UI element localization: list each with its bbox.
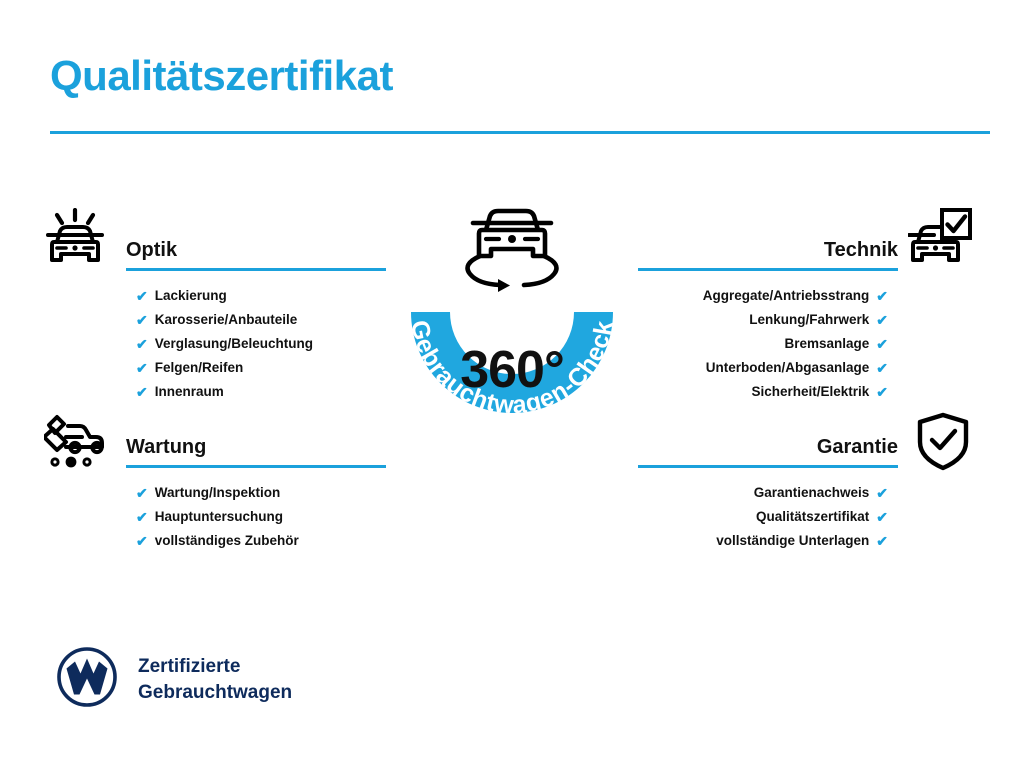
checklist-item: Lenkung/Fahrwerk✔ bbox=[638, 308, 898, 332]
vw-logo-icon bbox=[56, 646, 118, 713]
checklist-item-label: Sicherheit/Elektrik bbox=[751, 380, 869, 404]
section-header: Wartung bbox=[126, 425, 386, 465]
checklist-item-label: Lenkung/Fahrwerk bbox=[749, 308, 869, 332]
checklist-item-label: Lackierung bbox=[155, 284, 227, 308]
checklist-item: ✔Verglasung/Beleuchtung bbox=[126, 332, 386, 356]
check-icon: ✔ bbox=[876, 510, 888, 524]
checklist-technik: Aggregate/Antriebsstrang✔Lenkung/Fahrwer… bbox=[638, 284, 898, 404]
vw-wordmark: Zertifizierte Gebrauchtwagen bbox=[138, 654, 292, 706]
check-icon: ✔ bbox=[136, 313, 148, 327]
section-header: Garantie bbox=[638, 425, 898, 465]
checklist-item: ✔Innenraum bbox=[126, 380, 386, 404]
check-icon: ✔ bbox=[136, 289, 148, 303]
section-optik: Optik ✔Lackierung✔Karosserie/Anbauteile✔… bbox=[126, 228, 386, 404]
section-technik: Technik Aggregate/Antriebsstrang✔Lenkung… bbox=[638, 228, 898, 404]
checklist-wartung: ✔Wartung/Inspektion✔Hauptuntersuchung✔vo… bbox=[126, 481, 386, 553]
check-icon: ✔ bbox=[876, 337, 888, 351]
checklist-item-label: Garantienachweis bbox=[754, 481, 870, 505]
checklist-item: ✔Karosserie/Anbauteile bbox=[126, 308, 386, 332]
checklist-item-label: Felgen/Reifen bbox=[155, 356, 244, 380]
footer-brand: Zertifizierte Gebrauchtwagen bbox=[56, 646, 292, 713]
checklist-item: ✔Wartung/Inspektion bbox=[126, 481, 386, 505]
check-icon: ✔ bbox=[876, 486, 888, 500]
checklist-item-label: Unterboden/Abgasanlage bbox=[706, 356, 870, 380]
checklist-item: ✔Hauptuntersuchung bbox=[126, 505, 386, 529]
car-checkbox-icon bbox=[908, 208, 972, 275]
checklist-item: Qualitätszertifikat✔ bbox=[638, 505, 898, 529]
checklist-item-label: Karosserie/Anbauteile bbox=[155, 308, 298, 332]
checklist-garantie: Garantienachweis✔Qualitätszertifikat✔vol… bbox=[638, 481, 898, 553]
check-icon: ✔ bbox=[136, 385, 148, 399]
section-title-optik: Optik bbox=[126, 239, 177, 262]
section-title-garantie: Garantie bbox=[817, 436, 898, 459]
checklist-item: Garantienachweis✔ bbox=[638, 481, 898, 505]
section-divider-technik bbox=[638, 268, 898, 271]
checklist-item: ✔Lackierung bbox=[126, 284, 386, 308]
check-icon: ✔ bbox=[136, 361, 148, 375]
title-divider bbox=[50, 131, 990, 134]
section-header: Optik bbox=[126, 228, 386, 268]
section-divider-optik bbox=[126, 268, 386, 271]
checklist-item-label: Verglasung/Beleuchtung bbox=[155, 332, 313, 356]
check-icon: ✔ bbox=[876, 361, 888, 375]
checklist-item-label: Aggregate/Antriebsstrang bbox=[703, 284, 870, 308]
360-check-badge: Gebrauchtwagen-Check 360° bbox=[378, 256, 646, 476]
section-divider-garantie bbox=[638, 465, 898, 468]
section-title-wartung: Wartung bbox=[126, 436, 206, 459]
certificate-page: Qualitätszertifikat bbox=[0, 0, 1024, 768]
section-divider-wartung bbox=[126, 465, 386, 468]
badge-degrees-label: 360° bbox=[378, 340, 646, 400]
vw-wordmark-line1: Zertifizierte bbox=[138, 654, 292, 680]
checklist-item-label: Hauptuntersuchung bbox=[155, 505, 283, 529]
section-header: Technik bbox=[638, 228, 898, 268]
checklist-item-label: Innenraum bbox=[155, 380, 224, 404]
section-wartung: Wartung ✔Wartung/Inspektion✔Hauptuntersu… bbox=[126, 425, 386, 553]
check-icon: ✔ bbox=[876, 534, 888, 548]
car-shine-icon bbox=[44, 208, 106, 275]
check-icon: ✔ bbox=[876, 313, 888, 327]
checklist-item: Unterboden/Abgasanlage✔ bbox=[638, 356, 898, 380]
checklist-item-label: vollständiges Zubehör bbox=[155, 529, 299, 553]
check-icon: ✔ bbox=[876, 385, 888, 399]
check-icon: ✔ bbox=[136, 486, 148, 500]
checklist-item-label: vollständige Unterlagen bbox=[716, 529, 869, 553]
checklist-optik: ✔Lackierung✔Karosserie/Anbauteile✔Vergla… bbox=[126, 284, 386, 404]
checklist-item: Sicherheit/Elektrik✔ bbox=[638, 380, 898, 404]
car-service-book-icon bbox=[44, 412, 110, 475]
checklist-item-label: Wartung/Inspektion bbox=[155, 481, 281, 505]
check-icon: ✔ bbox=[136, 337, 148, 351]
checklist-item: Aggregate/Antriebsstrang✔ bbox=[638, 284, 898, 308]
checklist-item: Bremsanlage✔ bbox=[638, 332, 898, 356]
checklist-item: vollständige Unterlagen✔ bbox=[638, 529, 898, 553]
check-icon: ✔ bbox=[876, 289, 888, 303]
section-title-technik: Technik bbox=[824, 239, 898, 262]
vw-wordmark-line2: Gebrauchtwagen bbox=[138, 680, 292, 706]
page-title: Qualitätszertifikat bbox=[50, 52, 393, 100]
checklist-item: ✔Felgen/Reifen bbox=[126, 356, 386, 380]
shield-check-icon bbox=[916, 412, 970, 477]
section-garantie: Garantie Garantienachweis✔Qualitätszerti… bbox=[638, 425, 898, 553]
checklist-item-label: Qualitätszertifikat bbox=[756, 505, 869, 529]
check-icon: ✔ bbox=[136, 510, 148, 524]
checklist-item-label: Bremsanlage bbox=[784, 332, 869, 356]
checklist-item: ✔vollständiges Zubehör bbox=[126, 529, 386, 553]
check-icon: ✔ bbox=[136, 534, 148, 548]
